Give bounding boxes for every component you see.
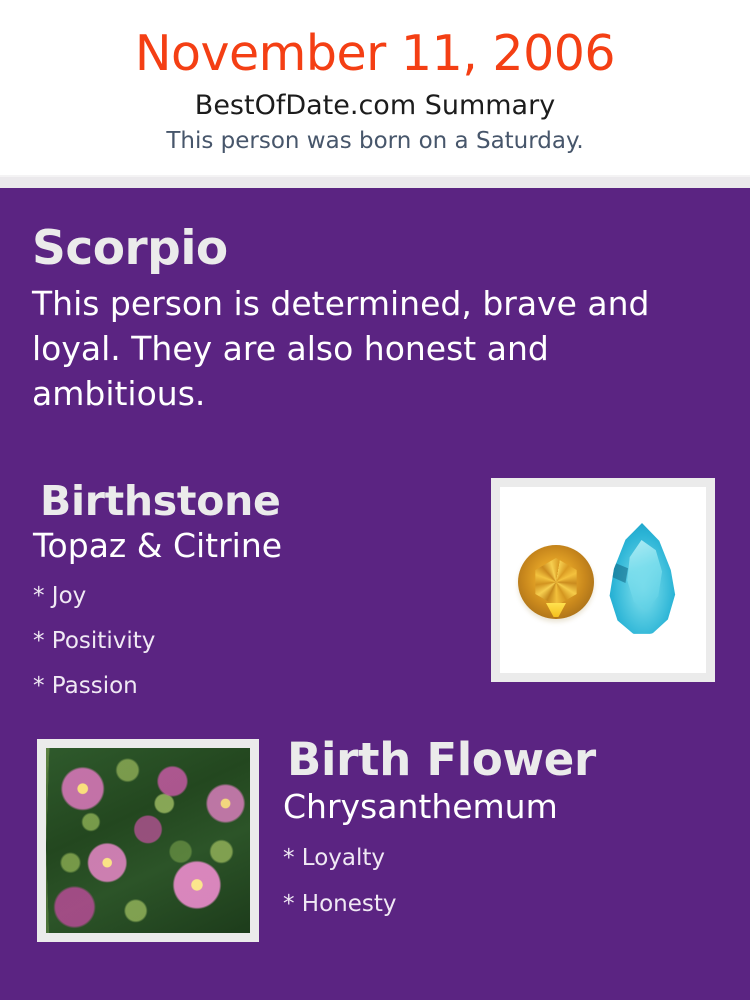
birthstone-section: Birthstone Topaz & Citrine * Joy * Posit… (40, 477, 470, 709)
birth-weekday-note: This person was born on a Saturday. (0, 122, 750, 155)
page-title: November 11, 2006 (0, 0, 750, 83)
birthstone-heading: Birthstone (40, 477, 470, 525)
list-item: * Positivity (33, 619, 470, 664)
list-item: * Loyalty (283, 835, 723, 881)
birth-flower-image-card (37, 739, 259, 942)
header: November 11, 2006 BestOfDate.com Summary… (0, 0, 750, 175)
content-panel: Scorpio This person is determined, brave… (0, 188, 750, 1000)
list-item: * Passion (33, 664, 470, 709)
birthstone-trait-list: * Joy * Positivity * Passion (33, 566, 470, 709)
list-item: * Honesty (283, 881, 723, 927)
blue-topaz-gem-icon (606, 523, 678, 635)
birthstone-image-card (491, 478, 715, 682)
birth-flower-trait-list: * Loyalty * Honesty (283, 827, 723, 927)
birthstone-photo (500, 487, 706, 673)
list-item: * Joy (33, 574, 470, 619)
birthstone-subject: Topaz & Citrine (33, 525, 470, 566)
citrine-gem-icon (518, 545, 594, 619)
birth-flower-section: Birth Flower Chrysanthemum * Loyalty * H… (283, 734, 723, 927)
site-subtitle: BestOfDate.com Summary (0, 83, 750, 122)
birth-flower-photo (46, 748, 250, 933)
summary-card: November 11, 2006 BestOfDate.com Summary… (0, 0, 750, 1000)
zodiac-section: Scorpio This person is determined, brave… (32, 222, 702, 416)
zodiac-sign-name: Scorpio (32, 222, 702, 275)
zodiac-description: This person is determined, brave and loy… (32, 275, 692, 416)
birth-flower-subject: Chrysanthemum (283, 786, 723, 827)
birth-flower-heading: Birth Flower (287, 734, 723, 786)
